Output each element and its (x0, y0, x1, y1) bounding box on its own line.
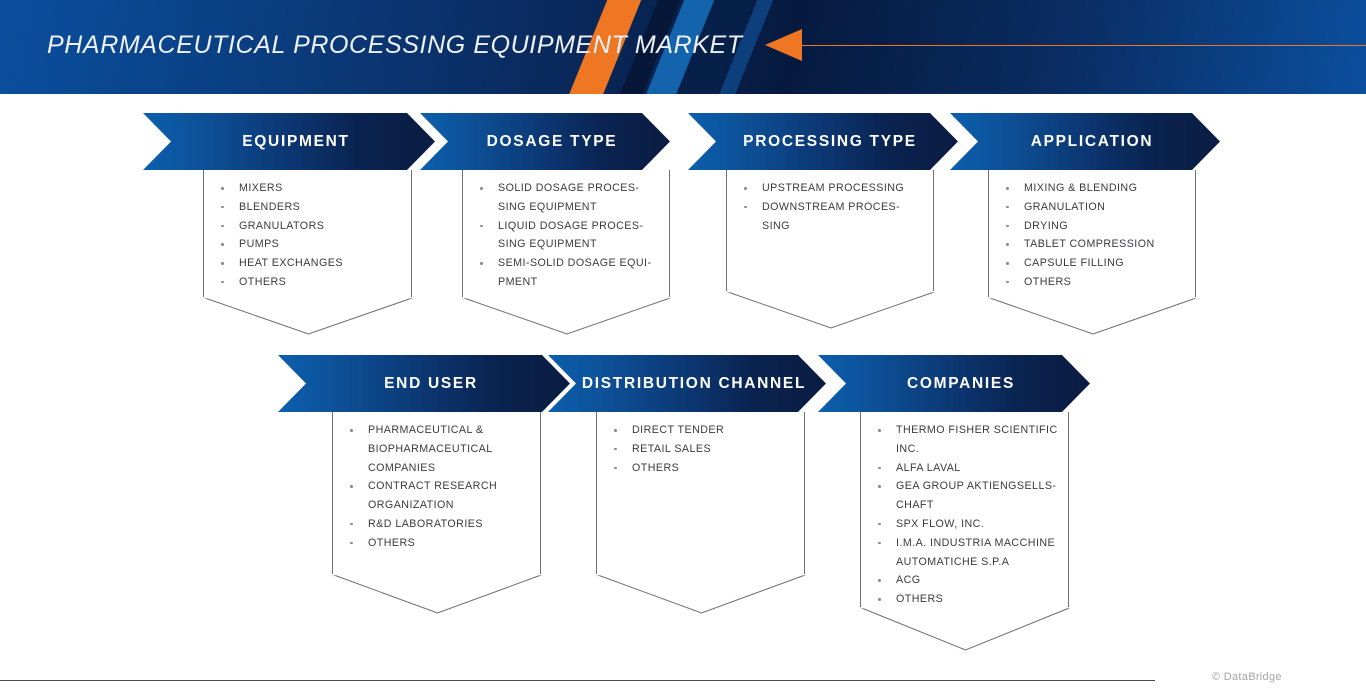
card-list-application: MIXING & BLENDING GRANULATION DRYING TAB… (998, 179, 1188, 292)
list-item: CAPSULE FILLING (998, 254, 1188, 273)
card-list-companies: THERMO FISHER SCIENTIFIC INC. ALFA LAVAL… (870, 421, 1062, 609)
card-list-dosage-type: SOLID DOSAGE PROCES-SING EQUIPMENT LIQUI… (472, 179, 662, 292)
list-item: R&D LABORATORIES (342, 515, 522, 534)
card-title-application: APPLICATION (1017, 133, 1154, 151)
list-item: TABLET COMPRESSION (998, 235, 1188, 254)
card-title-equipment: EQUIPMENT (228, 133, 349, 151)
list-item: PHARMACEUTICAL & BIOPHARMACEUTICAL COMPA… (342, 421, 522, 477)
list-item: THERMO FISHER SCIENTIFIC INC. (870, 421, 1062, 459)
list-item: MIXING & BLENDING (998, 179, 1188, 198)
list-item: OTHERS (998, 273, 1188, 292)
list-item: BLENDERS (213, 198, 403, 217)
list-item: PUMPS (213, 235, 403, 254)
card-title-end-user: END USER (370, 375, 478, 393)
card-title-distribution-channel: DISTRIBUTION CHANNEL (568, 375, 806, 393)
card-list-end-user: PHARMACEUTICAL & BIOPHARMACEUTICAL COMPA… (342, 421, 522, 553)
list-item: OTHERS (606, 459, 791, 478)
card-list-equipment: MIXERS BLENDERS GRANULATORS PUMPS HEAT E… (213, 179, 403, 292)
list-item: DRYING (998, 217, 1188, 236)
list-item: ALFA LAVAL (870, 459, 1062, 478)
list-item: SPX FLOW, INC. (870, 515, 1062, 534)
card-title-dosage-type: DOSAGE TYPE (473, 133, 618, 151)
card-title-companies: COMPANIES (893, 375, 1015, 393)
card-pointer-companies (860, 607, 1071, 651)
list-item: GRANULATORS (213, 217, 403, 236)
card-pointer-processing-type (726, 291, 936, 329)
list-item: SOLID DOSAGE PROCES-SING EQUIPMENT (472, 179, 662, 217)
list-item: ACG (870, 571, 1062, 590)
card-banner-end-user[interactable]: END USER (278, 355, 570, 412)
page-header: PHARMACEUTICAL PROCESSING EQUIPMENT MARK… (0, 0, 1366, 94)
card-pointer-dosage-type (462, 297, 672, 335)
list-item: OTHERS (342, 534, 522, 553)
card-list-distribution-channel: DIRECT TENDER RETAIL SALES OTHERS (606, 421, 791, 477)
footer-credit: © DataBridge (1212, 671, 1282, 683)
list-item: UPSTREAM PROCESSING (736, 179, 918, 198)
card-list-processing-type: UPSTREAM PROCESSING DOWNSTREAM PROCES-SI… (736, 179, 918, 235)
card-banner-companies[interactable]: COMPANIES (818, 355, 1090, 412)
list-item: GRANULATION (998, 198, 1188, 217)
list-item: CONTRACT RESEARCH ORGANIZATION (342, 477, 522, 515)
card-banner-equipment[interactable]: EQUIPMENT (143, 113, 435, 170)
footer-divider (0, 680, 1155, 681)
card-pointer-distribution-channel (596, 574, 807, 614)
card-title-processing-type: PROCESSING TYPE (729, 133, 917, 151)
list-item: HEAT EXCHANGES (213, 254, 403, 273)
card-banner-distribution-channel[interactable]: DISTRIBUTION CHANNEL (548, 355, 826, 412)
list-item: DOWNSTREAM PROCES-SING (736, 198, 918, 236)
left-arrow-icon (765, 29, 802, 61)
list-item: I.M.A. INDUSTRIA MACCHINE AUTOMATICHE S.… (870, 534, 1062, 572)
page-title: PHARMACEUTICAL PROCESSING EQUIPMENT MARK… (47, 31, 743, 60)
list-item: GEA GROUP AKTIENGSELLS-CHAFT (870, 477, 1062, 515)
card-pointer-application (988, 297, 1198, 335)
list-item: SEMI-SOLID DOSAGE EQUI-PMENT (472, 254, 662, 292)
list-item: OTHERS (870, 590, 1062, 609)
list-item: RETAIL SALES (606, 440, 791, 459)
card-pointer-equipment (203, 297, 414, 335)
list-item: LIQUID DOSAGE PROCES-SING EQUIPMENT (472, 217, 662, 255)
list-item: OTHERS (213, 273, 403, 292)
card-banner-application[interactable]: APPLICATION (950, 113, 1220, 170)
card-banner-dosage-type[interactable]: DOSAGE TYPE (420, 113, 670, 170)
card-banner-processing-type[interactable]: PROCESSING TYPE (688, 113, 958, 170)
list-item: MIXERS (213, 179, 403, 198)
card-pointer-end-user (332, 574, 543, 614)
arrow-rule (800, 45, 1366, 46)
list-item: DIRECT TENDER (606, 421, 791, 440)
